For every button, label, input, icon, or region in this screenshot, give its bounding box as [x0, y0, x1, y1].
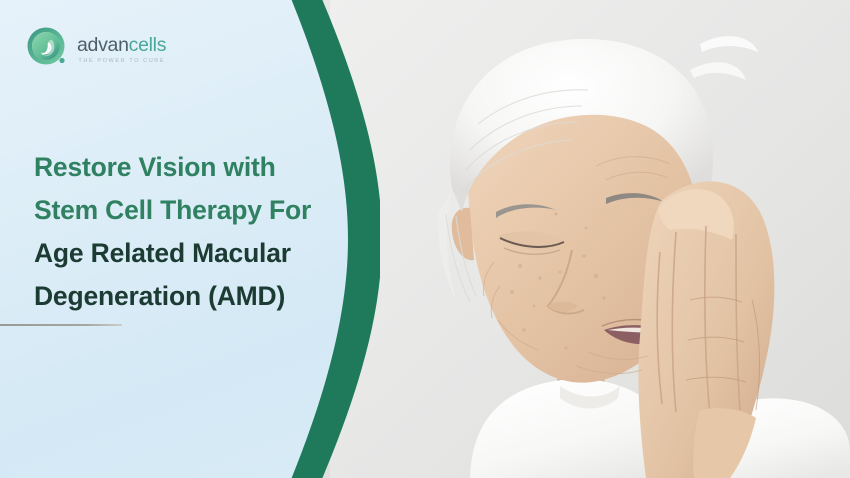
headline-line-3: Age Related Macular	[34, 232, 364, 275]
headline-line-2: Stem Cell Therapy For	[34, 189, 364, 232]
logo-wordmark-cells: cells	[129, 34, 167, 56]
headline-divider-rule	[0, 324, 122, 326]
logo-tagline: THE POWER TO CURE	[78, 59, 166, 65]
logo-wordmark-advan: advan	[77, 34, 129, 56]
logo-wordmark: advancells	[77, 36, 166, 56]
headline-block: Restore Vision with Stem Cell Therapy Fo…	[34, 146, 364, 318]
advancells-logo[interactable]: advancells THE POWER TO CURE	[26, 26, 166, 72]
headline-line-4: Degeneration (AMD)	[34, 275, 364, 318]
advancells-droplet-mark	[26, 26, 70, 72]
logo-text-block: advancells THE POWER TO CURE	[77, 33, 166, 65]
headline-line-1: Restore Vision with	[34, 146, 364, 189]
amd-hero-banner: advancells THE POWER TO CURE Restore Vis…	[0, 0, 850, 478]
